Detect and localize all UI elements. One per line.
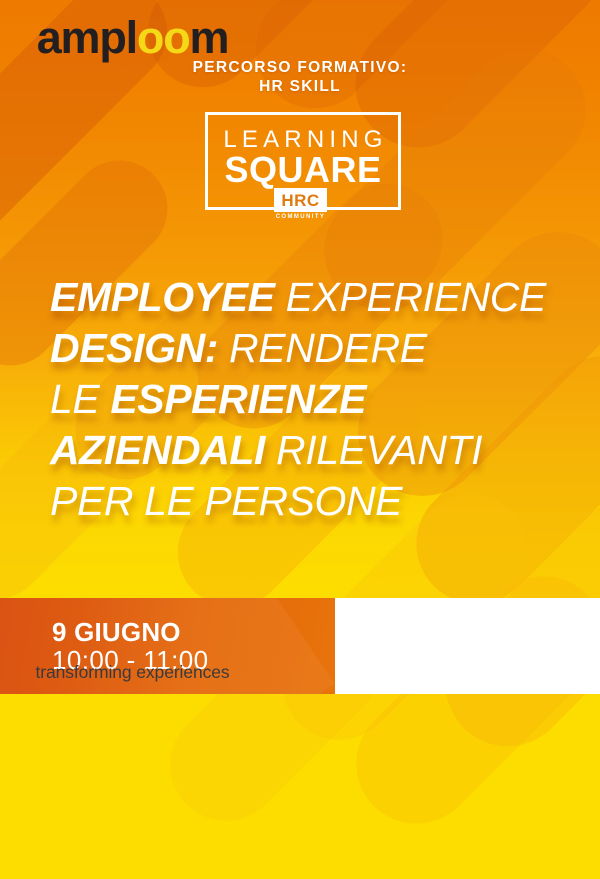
page-title: EMPLOYEE EXPERIENCEDESIGN: RENDERELE ESP… (50, 272, 570, 527)
page-title-line: DESIGN: RENDERE (50, 323, 570, 374)
amploom-part-2: m (190, 12, 229, 63)
page-title-text: RILEVANTI (265, 427, 482, 473)
event-date: 9 GIUGNO (52, 617, 181, 647)
hrc-community-label: COMMUNITY (264, 213, 337, 221)
page-title-line: EMPLOYEE EXPERIENCE (50, 272, 570, 323)
sponsor-logo-panel (335, 598, 600, 694)
hrc-logo-badge: HRC (274, 188, 327, 212)
page-title-line: LE ESPERIENZE (50, 374, 570, 425)
hrc-badge-label: HRC (281, 192, 319, 209)
page-title-emphasis: ESPERIENZE (110, 376, 366, 422)
page-title-emphasis: EMPLOYEE (50, 274, 275, 320)
page-title-text: PER LE PERSONE (50, 478, 402, 524)
eyebrow-line-2: HR SKILL (0, 77, 600, 96)
decorative-stripe (332, 552, 600, 849)
page-title-text: LE (50, 376, 110, 422)
amploom-accent-oo: oo (137, 12, 190, 63)
page-title-emphasis: AZIENDALI (50, 427, 265, 473)
learning-square-word-bold: SQUARE (205, 150, 401, 190)
page-title-text: RENDERE (218, 325, 427, 371)
programme-eyebrow: PERCORSO FORMATIVO: HR SKILL (0, 58, 600, 96)
page-title-text: EXPERIENCE (275, 274, 546, 320)
amploom-tagline: transforming experiences (0, 662, 265, 683)
amploom-wordmark: amploom (0, 13, 265, 63)
page-title-line: PER LE PERSONE (50, 476, 570, 527)
amploom-part-1: ampl (37, 12, 137, 63)
page-title-line: AZIENDALI RILEVANTI (50, 425, 570, 476)
event-poster: PERCORSO FORMATIVO: HR SKILL LEARNING SQ… (0, 0, 600, 879)
page-title-emphasis: DESIGN: (50, 325, 218, 371)
